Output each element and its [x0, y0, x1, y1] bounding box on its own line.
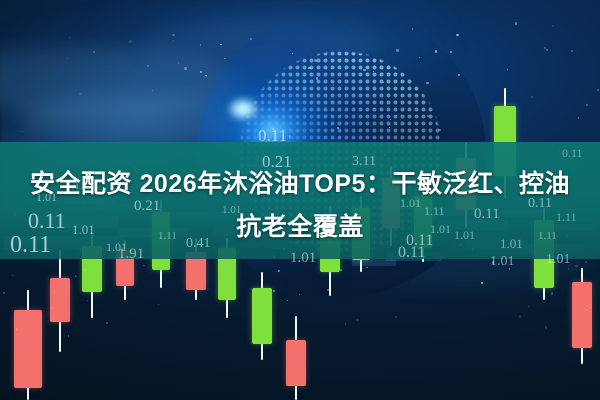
background-digit: 0.11 — [258, 126, 287, 146]
background-digit: 1.01 — [490, 254, 515, 270]
title-line-1: 安全配资 2026年沐浴油TOP5：干敏泛红、控油 — [30, 170, 570, 198]
background-digit: 1.01 — [546, 252, 571, 268]
background-digit: 1.01 — [290, 250, 316, 267]
poster-canvas: 0.110.111.011.111.011.011.910.211.110.41… — [0, 0, 600, 400]
page-title: 安全配资 2026年沐浴油TOP5：干敏泛红、控油 抗老全覆盖 — [0, 163, 600, 249]
title-line-2: 抗老全覆盖 — [0, 206, 600, 249]
background-digit: 0.11 — [562, 146, 583, 161]
